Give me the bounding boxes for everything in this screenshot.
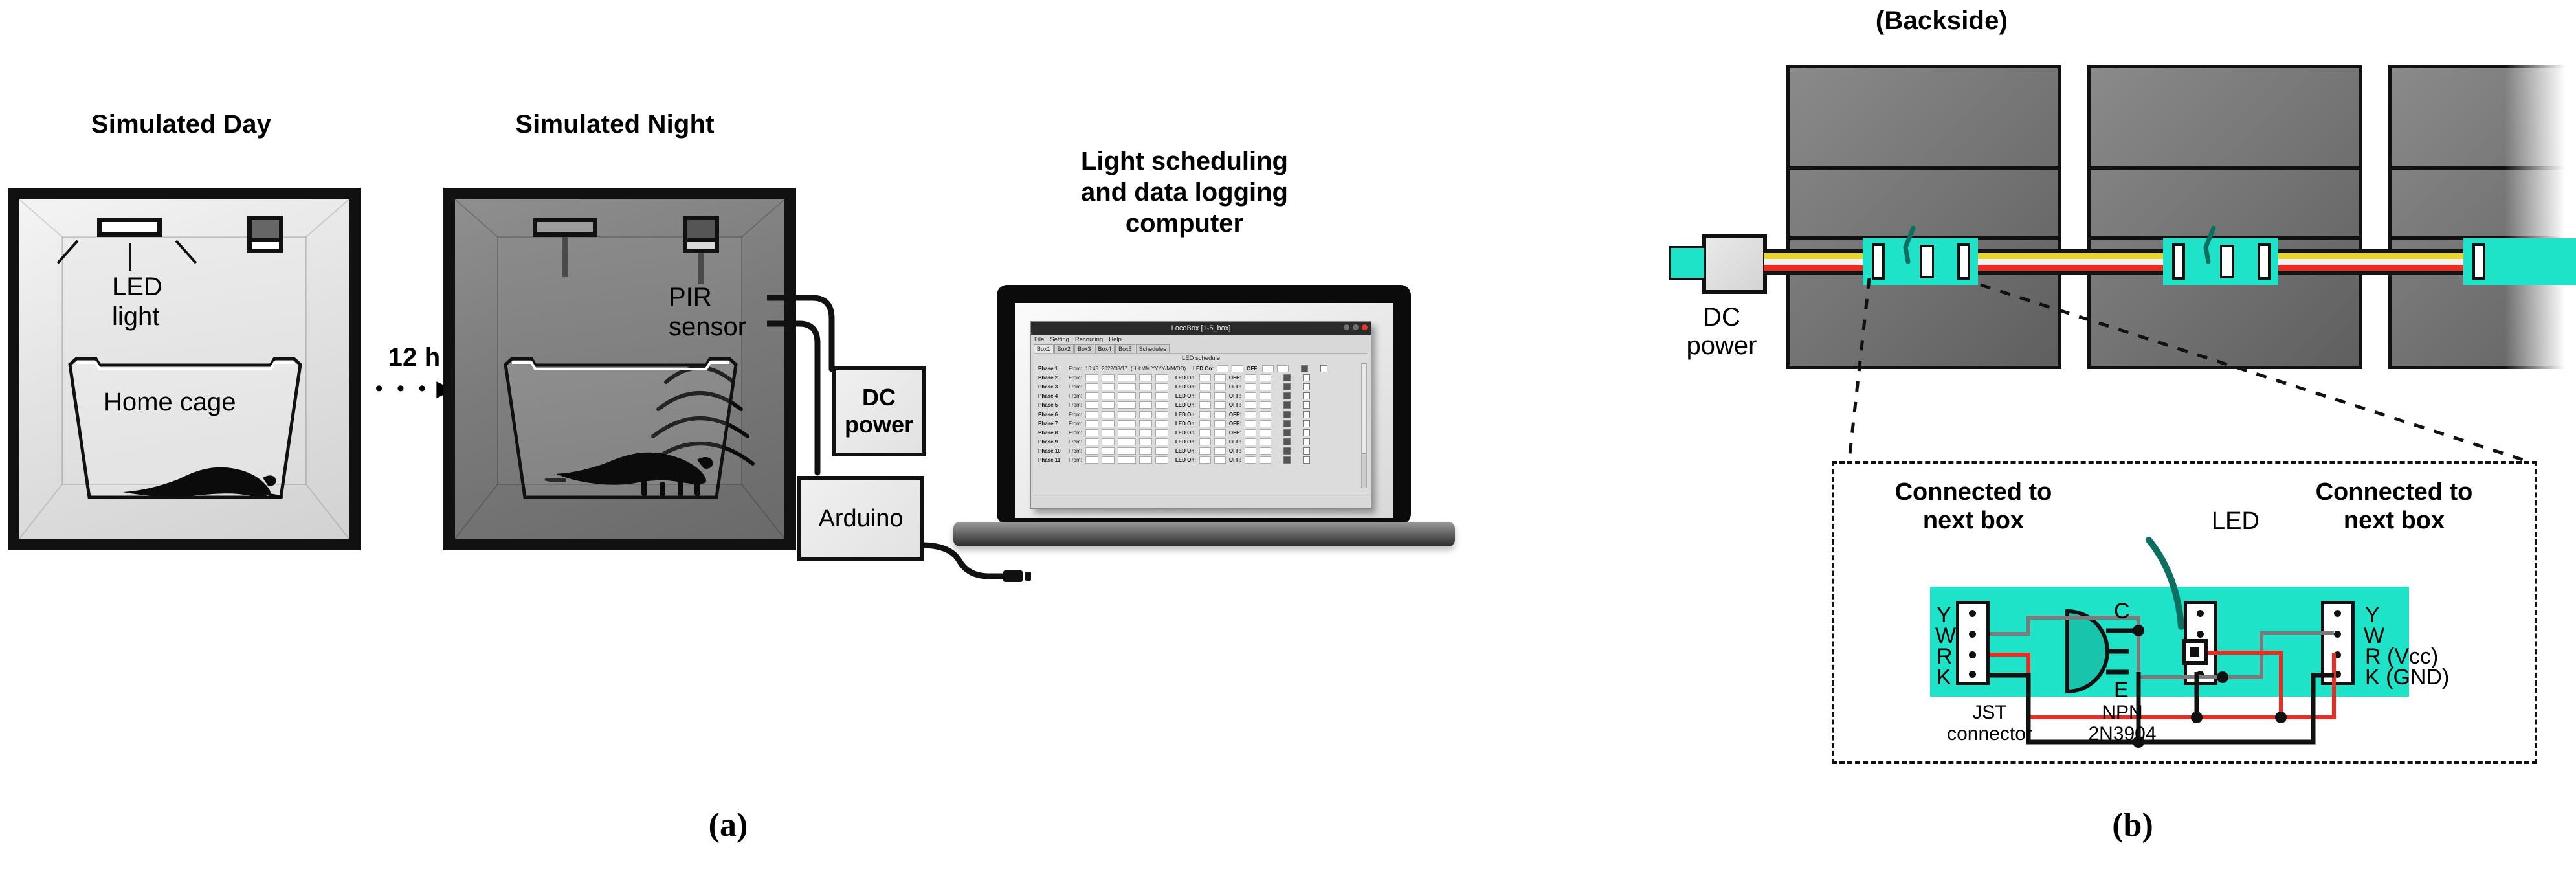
phase-label: Phase 9 [1038, 439, 1065, 445]
start-day-field[interactable] [1155, 447, 1168, 455]
led-off-mm-field[interactable] [1260, 392, 1271, 399]
phase-label: Phase 5 [1038, 402, 1065, 408]
start-day-field[interactable] [1155, 411, 1168, 418]
arduino-box: Arduino [797, 476, 924, 561]
tab-box2[interactable]: Box2 [1054, 344, 1074, 353]
from-label: From: [1069, 430, 1082, 436]
led-off-label: OFF: [1229, 412, 1241, 418]
led-on-label: LED On: [1175, 439, 1196, 445]
day-chamber: LED light Home cage [8, 188, 361, 550]
row-enable-checkbox[interactable] [1283, 429, 1291, 436]
start-hh-field[interactable] [1085, 411, 1098, 418]
tab-box1[interactable]: Box1 [1034, 344, 1054, 353]
schedule-row[interactable]: Phase 4From:LED On:OFF: [1034, 392, 1368, 401]
led-off-label: OFF: [1247, 366, 1259, 372]
led-on-label: LED On: [1175, 375, 1196, 381]
row-enable-checkbox[interactable] [1283, 411, 1291, 418]
led-on-label: LED On: [1175, 430, 1196, 436]
panel-a-letter: (a) [654, 806, 803, 844]
led-off-hh-field[interactable] [1245, 401, 1256, 409]
phase-label: Phase 2 [1038, 375, 1065, 381]
led-off-mm-field[interactable] [1260, 411, 1271, 418]
row-secondary-checkbox[interactable] [1303, 420, 1310, 427]
led-on-label: LED On: [1175, 384, 1196, 390]
start-day-field[interactable] [1155, 429, 1168, 436]
phase-label: Phase 3 [1038, 384, 1065, 390]
row-secondary-checkbox[interactable] [1303, 456, 1310, 464]
start-hh-field[interactable] [1085, 456, 1098, 464]
phase-label: Phase 7 [1038, 421, 1065, 427]
from-label: From: [1069, 366, 1082, 372]
start-mm-field[interactable] [1102, 392, 1115, 399]
schedule-row[interactable]: Phase 3From:LED On:OFF: [1034, 382, 1368, 391]
led-on-hh-field[interactable] [1217, 365, 1228, 372]
row-enable-checkbox[interactable] [1283, 420, 1291, 427]
start-month-field[interactable] [1139, 401, 1152, 409]
led-on-mm-field[interactable] [1214, 429, 1226, 436]
row-enable-checkbox[interactable] [1283, 392, 1291, 399]
start-hh-field[interactable] [1085, 438, 1098, 445]
led-off-label: OFF: [1229, 430, 1241, 436]
window-titlebar[interactable]: LocoBox [1-5_box] [1031, 322, 1371, 335]
led-on-label: LED On: [1175, 402, 1196, 408]
led-wire-1 [1894, 225, 1920, 264]
simulated-night-title: Simulated Night [434, 110, 796, 139]
phase-label: Phase 10 [1038, 448, 1065, 454]
led-off-label: OFF: [1229, 457, 1241, 463]
row-enable-checkbox[interactable] [1283, 447, 1291, 455]
from-label: From: [1069, 402, 1082, 408]
start-day-field[interactable] [1155, 456, 1168, 464]
from-label: From: [1069, 457, 1082, 463]
start-hh-field[interactable] [1085, 392, 1098, 399]
led-on-mm-field[interactable] [1214, 374, 1226, 381]
menu-item-help[interactable]: Help [1109, 336, 1122, 343]
schedule-scrollbar[interactable] [1361, 363, 1367, 488]
phase-label: Phase 1 [1038, 366, 1065, 372]
led-off-hh-field[interactable] [1245, 374, 1256, 381]
row-secondary-checkbox[interactable] [1303, 447, 1310, 455]
led-on-hh-field[interactable] [1199, 456, 1211, 464]
led-on-label: LED On: [1175, 412, 1196, 418]
phase-label: Phase 4 [1038, 393, 1065, 399]
from-label: From: [1069, 448, 1082, 454]
start-day-field[interactable] [1155, 401, 1168, 409]
led-on-hh-field[interactable] [1199, 447, 1211, 455]
led-on-hh-field[interactable] [1199, 401, 1211, 409]
transition-dots: • • • [375, 377, 430, 399]
schedule-row[interactable]: Phase 8From:LED On:OFF: [1034, 428, 1368, 437]
led-on-mm-field[interactable] [1214, 383, 1226, 390]
row-secondary-checkbox[interactable] [1320, 365, 1327, 372]
led-off-hh-field[interactable] [1245, 411, 1256, 418]
start-year-field[interactable] [1118, 401, 1136, 409]
led-off-hh-field[interactable] [1245, 429, 1256, 436]
from-label: From: [1069, 412, 1082, 418]
led-on-hh-field[interactable] [1199, 374, 1211, 381]
led-off-hh-field[interactable] [1245, 420, 1256, 427]
start-month-field[interactable] [1139, 438, 1152, 445]
schedule-row[interactable]: Phase 11From:LED On:OFF: [1034, 456, 1368, 465]
start-month-field[interactable] [1139, 429, 1152, 436]
row-secondary-checkbox[interactable] [1303, 374, 1310, 381]
computer-title: Light scheduling and data logging comput… [1042, 146, 1327, 239]
start-date-value[interactable]: 2022/08/17 [1102, 366, 1127, 372]
jst-connector-3-left [2472, 243, 2485, 280]
mouse-silhouette-day [117, 439, 285, 500]
dc-power-label-b: DC power [1667, 303, 1777, 360]
transistor-pin-e-label: E [2114, 677, 2129, 703]
schedule-row[interactable]: Phase 10From:LED On:OFF: [1034, 447, 1368, 456]
led-off-mm-field[interactable] [1260, 456, 1271, 464]
schedule-row[interactable]: Phase 1 From: 16:45 2022/08/17 (HH:MM YY… [1034, 364, 1368, 373]
start-mm-field[interactable] [1102, 447, 1115, 455]
start-mm-field[interactable] [1102, 401, 1115, 409]
tab-box5[interactable]: Box5 [1115, 344, 1135, 353]
tab-box4[interactable]: Box4 [1095, 344, 1115, 353]
start-day-field[interactable] [1155, 383, 1168, 390]
menu-item-recording[interactable]: Recording [1075, 336, 1103, 343]
jst-connector-caption: JST connector [1931, 702, 2048, 745]
row-secondary-checkbox[interactable] [1303, 429, 1310, 436]
led-on-label: LED On: [1175, 393, 1196, 399]
laptop-base [953, 522, 1455, 546]
start-mm-field[interactable] [1102, 383, 1115, 390]
led-off-label: OFF: [1229, 375, 1241, 381]
start-mm-field[interactable] [1102, 438, 1115, 445]
row-enable-checkbox[interactable] [1301, 365, 1308, 372]
start-day-field[interactable] [1155, 374, 1168, 381]
start-year-field[interactable] [1118, 429, 1136, 436]
start-mm-field[interactable] [1102, 420, 1115, 427]
start-month-field[interactable] [1139, 392, 1152, 399]
row-secondary-checkbox[interactable] [1303, 401, 1310, 409]
start-year-field[interactable] [1118, 420, 1136, 427]
start-year-field[interactable] [1118, 383, 1136, 390]
row-enable-checkbox[interactable] [1283, 374, 1291, 381]
row-secondary-checkbox[interactable] [1303, 383, 1310, 390]
npn-transistor-caption: NPN 2N3904 [2054, 702, 2190, 745]
led-off-mm-field[interactable] [1260, 447, 1271, 455]
schedule-rows: Phase 2From:LED On:OFF:Phase 3From:LED O… [1034, 373, 1368, 465]
datetime-format-hint: (HH:MM YYYY/MM/DD) [1131, 366, 1186, 372]
led-on-hh-field[interactable] [1199, 392, 1211, 399]
led-off-hh-field[interactable] [1262, 365, 1274, 372]
led-off-hh-field[interactable] [1245, 447, 1256, 455]
start-hh-field[interactable] [1085, 374, 1098, 381]
led-on-label: LED On: [1175, 421, 1196, 427]
menu-item-file[interactable]: File [1034, 336, 1044, 343]
start-month-field[interactable] [1139, 411, 1152, 418]
led-off-label: OFF: [1229, 439, 1241, 445]
transistor-pin-c-label: C [2114, 598, 2130, 624]
scrollbar-thumb[interactable] [1362, 363, 1366, 454]
start-hh-field[interactable] [1085, 401, 1098, 409]
dc-power-box: DC power [832, 366, 926, 456]
led-off-label: OFF: [1229, 384, 1241, 390]
from-label: From: [1069, 384, 1082, 390]
phase-label: Phase 11 [1038, 457, 1065, 463]
led-off-mm-field[interactable] [1277, 365, 1289, 372]
led-on-hh-field[interactable] [1199, 383, 1211, 390]
start-mm-field[interactable] [1102, 429, 1115, 436]
from-label: From: [1069, 393, 1082, 399]
close-button[interactable] [1362, 324, 1368, 330]
led-on-hh-field[interactable] [1199, 411, 1211, 418]
mouse-silhouette-night [544, 426, 732, 497]
jst-connector-1-right [1957, 243, 1970, 280]
start-day-field[interactable] [1155, 438, 1168, 445]
start-hh-field[interactable] [1085, 429, 1098, 436]
led-off-mm-field[interactable] [1260, 374, 1271, 381]
locobox-window[interactable]: LocoBox [1-5_box] File Setting Recording… [1030, 321, 1371, 509]
led-on-mm-field[interactable] [1214, 411, 1226, 418]
dc-power-supply-b [1702, 234, 1767, 294]
simulated-day-title: Simulated Day [0, 110, 362, 139]
start-month-field[interactable] [1139, 383, 1152, 390]
led-off-hh-field[interactable] [1245, 383, 1256, 390]
led-on-label: LED On: [1175, 448, 1196, 454]
led-off-mm-field[interactable] [1260, 429, 1271, 436]
window-controls[interactable] [1344, 324, 1368, 330]
night-chamber: PIR sensor [443, 188, 796, 550]
schedule-panel: LED schedule Phase 1 From: 16:45 2022/08… [1034, 353, 1368, 495]
start-hh-field[interactable] [1085, 420, 1098, 427]
from-label: From: [1069, 375, 1082, 381]
transistor-2 [2220, 245, 2234, 278]
schedule-row[interactable]: Phase 2From:LED On:OFF: [1034, 373, 1368, 382]
start-month-field[interactable] [1139, 420, 1152, 427]
transistor-1 [1920, 245, 1934, 278]
led-off-label: OFF: [1229, 448, 1241, 454]
tab-schedules[interactable]: Schedules [1136, 344, 1170, 353]
dc-power-plug-icon [1669, 246, 1706, 280]
led-off-label: OFF: [1229, 393, 1241, 399]
led-off-mm-field[interactable] [1260, 383, 1271, 390]
start-month-field[interactable] [1139, 447, 1152, 455]
start-year-field[interactable] [1118, 438, 1136, 445]
start-day-field[interactable] [1155, 420, 1168, 427]
start-month-field[interactable] [1139, 456, 1152, 464]
start-mm-field[interactable] [1102, 411, 1115, 418]
from-label: From: [1069, 421, 1082, 427]
start-mm-field[interactable] [1102, 374, 1115, 381]
start-hh-field[interactable] [1085, 447, 1098, 455]
backside-label: (Backside) [1748, 6, 2136, 36]
phase-label: Phase 8 [1038, 430, 1065, 436]
led-off-mm-field[interactable] [1260, 420, 1271, 427]
home-cage-label: Home cage [104, 387, 236, 417]
led-schedule-title: LED schedule [1034, 354, 1368, 364]
led-off-hh-field[interactable] [1245, 392, 1256, 399]
row-secondary-checkbox[interactable] [1303, 411, 1310, 418]
led-on-mm-field[interactable] [1214, 420, 1226, 427]
led-on-mm-field[interactable] [1214, 401, 1226, 409]
row-enable-checkbox[interactable] [1283, 456, 1291, 464]
led-off-hh-field[interactable] [1245, 456, 1256, 464]
panel-b-letter: (b) [2058, 806, 2207, 844]
maximize-button[interactable] [1353, 324, 1359, 330]
led-off-label: OFF: [1229, 402, 1241, 408]
rack-divider [2091, 166, 2359, 170]
tab-box3[interactable]: Box3 [1074, 344, 1094, 353]
start-year-field[interactable] [1118, 447, 1136, 455]
window-title-text: LocoBox [1-5_box] [1171, 324, 1231, 332]
schedule-row[interactable]: Phase 7From:LED On:OFF: [1034, 419, 1368, 428]
led-on-mm-field[interactable] [1214, 447, 1226, 455]
led-off-mm-field[interactable] [1260, 401, 1271, 409]
led-on-mm-field[interactable] [1214, 392, 1226, 399]
row-enable-checkbox[interactable] [1283, 401, 1291, 409]
start-day-field[interactable] [1155, 392, 1168, 399]
led-on-hh-field[interactable] [1199, 429, 1211, 436]
jst-connector-2-left [2172, 243, 2185, 280]
led-on-label: LED On: [1175, 457, 1196, 463]
minimize-button[interactable] [1344, 324, 1349, 330]
start-time-value[interactable]: 16:45 [1085, 366, 1098, 372]
schedule-row[interactable]: Phase 5From:LED On:OFF: [1034, 401, 1368, 410]
row-enable-checkbox[interactable] [1283, 438, 1291, 445]
led-off-mm-field[interactable] [1260, 438, 1271, 445]
day-chamber-interior: LED light Home cage [19, 199, 349, 539]
led-on-mm-field[interactable] [1214, 456, 1226, 464]
jst-connector-2-right [2258, 243, 2271, 280]
menu-bar[interactable]: File Setting Recording Help [1031, 335, 1371, 344]
start-year-field[interactable] [1118, 456, 1136, 464]
led-wire-2 [2194, 225, 2220, 264]
rack-divider [1790, 166, 2058, 170]
schedule-row[interactable]: Phase 6From:LED On:OFF: [1034, 410, 1368, 419]
led-on-hh-field[interactable] [1199, 420, 1211, 427]
row-secondary-checkbox[interactable] [1303, 438, 1310, 445]
start-mm-field[interactable] [1102, 456, 1115, 464]
led-off-label: OFF: [1229, 421, 1241, 427]
wiring-detail-callout: Connected to next box Connected to next … [1832, 461, 2537, 764]
start-year-field[interactable] [1118, 411, 1136, 418]
led-on-mm-field[interactable] [1214, 438, 1226, 445]
led-on-mm-field[interactable] [1232, 365, 1243, 372]
from-label: From: [1069, 439, 1082, 445]
led-on-label: LED On: [1193, 366, 1214, 372]
led-on-hh-field[interactable] [1199, 438, 1211, 445]
menu-item-setting[interactable]: Setting [1050, 336, 1069, 343]
start-year-field[interactable] [1118, 392, 1136, 399]
row-secondary-checkbox[interactable] [1303, 392, 1310, 399]
start-hh-field[interactable] [1085, 383, 1098, 390]
phase-label: Phase 6 [1038, 412, 1065, 418]
schedule-row[interactable]: Phase 9From:LED On:OFF: [1034, 438, 1368, 447]
night-chamber-interior: PIR sensor [455, 199, 784, 539]
start-year-field[interactable] [1118, 374, 1136, 381]
start-month-field[interactable] [1139, 374, 1152, 381]
tab-bar[interactable]: Box1 Box2 Box3 Box4 Box5 Schedules [1031, 344, 1371, 353]
row-enable-checkbox[interactable] [1283, 383, 1291, 390]
jst-connector-1-left [1872, 243, 1885, 280]
led-off-hh-field[interactable] [1245, 438, 1256, 445]
